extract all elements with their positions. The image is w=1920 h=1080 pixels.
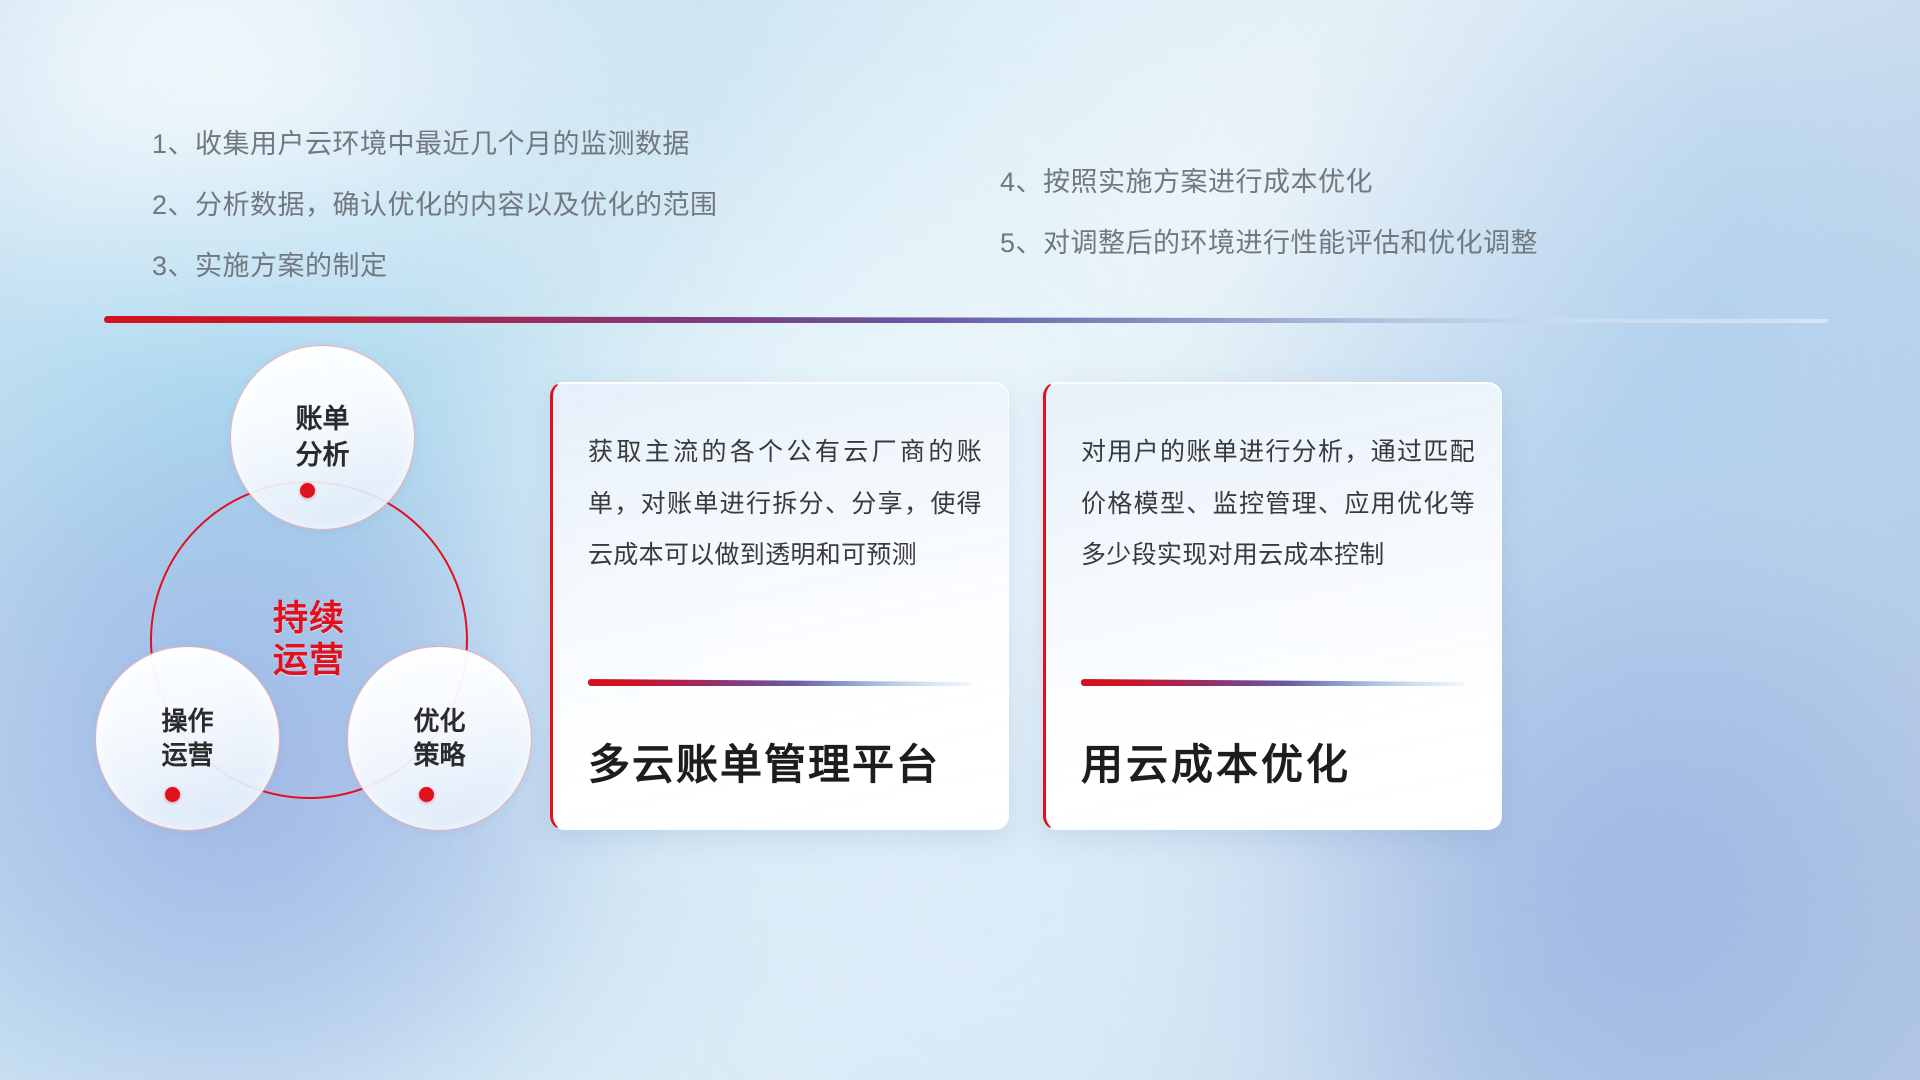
diagram-node-operation-line2: 运营 [161,739,213,773]
diagram-center-label-line2: 运营 [273,640,345,682]
card-2-title: 用云成本优化 [1081,731,1475,792]
card-1-body: 获取主流的各个公有云厂商的账单，对账单进行拆分、分享，使得云成本可以做到透明和可… [588,427,982,582]
diagram-node-bill-analysis-line1: 账单 [296,402,350,437]
slide-canvas: 1、收集用户云环境中最近几个月的监测数据 2、分析数据，确认优化的内容以及优化的… [0,0,1920,1080]
steps-list-right: 4、按照实施方案进行成本优化 5、对调整后的环境进行性能评估和优化调整 [1000,160,1538,260]
diagram-node-dot-bottom-right [419,787,434,802]
card-1-divider [588,679,972,686]
continuous-operation-diagram: 持续 运营 账单 分析 操作 运营 优化 策略 [95,345,555,945]
diagram-node-optimization-strategy-line2: 策略 [413,739,465,773]
steps-list-left: 1、收集用户云环境中最近几个月的监测数据 2、分析数据，确认优化的内容以及优化的… [152,122,718,283]
step-item-3: 3、实施方案的制定 [152,244,718,283]
diagram-node-optimization-strategy-label: 优化 策略 [413,705,465,773]
step-item-5: 5、对调整后的环境进行性能评估和优化调整 [1000,221,1538,260]
card-cloud-cost-optimization[interactable]: 对用户的账单进行分析，通过匹配价格模型、监控管理、应用优化等多少段实现对用云成本… [1043,382,1502,830]
diagram-node-bill-analysis-line2: 分析 [296,438,350,473]
diagram-node-optimization-strategy[interactable]: 优化 策略 [347,646,532,831]
diagram-node-optimization-strategy-line1: 优化 [413,705,465,739]
diagram-node-dot-bottom-left [165,787,180,802]
card-multicloud-billing-platform[interactable]: 获取主流的各个公有云厂商的账单，对账单进行拆分、分享，使得云成本可以做到透明和可… [550,382,1009,830]
diagram-node-operation[interactable]: 操作 运营 [95,646,280,831]
diagram-node-dot-top [300,483,315,498]
step-item-2: 2、分析数据，确认优化的内容以及优化的范围 [152,183,718,222]
diagram-node-bill-analysis-label: 账单 分析 [296,402,350,472]
card-2-body: 对用户的账单进行分析，通过匹配价格模型、监控管理、应用优化等多少段实现对用云成本… [1081,427,1475,582]
diagram-node-operation-line1: 操作 [161,705,213,739]
step-item-4: 4、按照实施方案进行成本优化 [1000,160,1538,199]
diagram-node-bill-analysis[interactable]: 账单 分析 [230,345,415,530]
step-item-1: 1、收集用户云环境中最近几个月的监测数据 [152,122,718,161]
diagram-center-label-line1: 持续 [273,598,345,640]
diagram-node-operation-label: 操作 运营 [161,705,213,773]
card-2-divider [1081,679,1465,686]
diagram-center-label: 持续 运营 [273,598,345,682]
card-1-title: 多云账单管理平台 [588,731,982,792]
